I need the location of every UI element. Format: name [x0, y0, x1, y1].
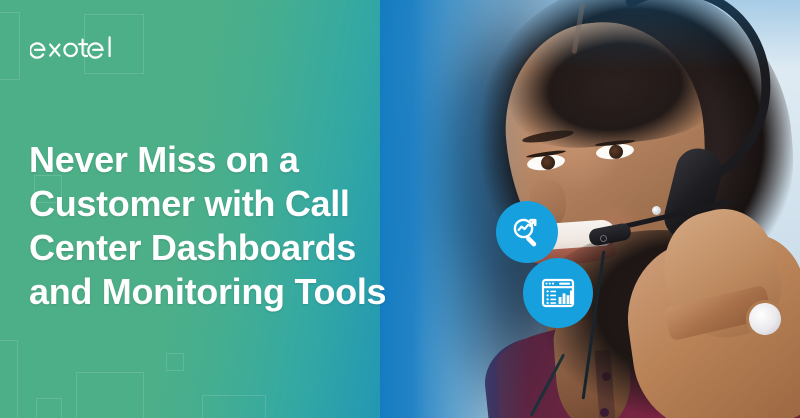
headline-line-2: Customer with Call — [29, 182, 499, 226]
marketing-banner: exotel Never Miss on a Customer with Cal… — [0, 0, 800, 418]
analytics-search-badge — [496, 201, 558, 263]
exotel-wordmark-icon — [30, 35, 142, 67]
dashboard-bar-chart-icon — [537, 272, 579, 314]
exotel-logo[interactable]: exotel — [30, 36, 142, 66]
headline-line-3: Center Dashboards — [29, 226, 499, 270]
dashboard-report-badge — [523, 258, 593, 328]
headline-line-4: and Monitoring Tools — [29, 270, 499, 314]
magnifier-trend-icon — [507, 212, 547, 252]
page-title: Never Miss on a Customer with Call Cente… — [29, 138, 499, 314]
headline-line-1: Never Miss on a — [29, 138, 499, 182]
